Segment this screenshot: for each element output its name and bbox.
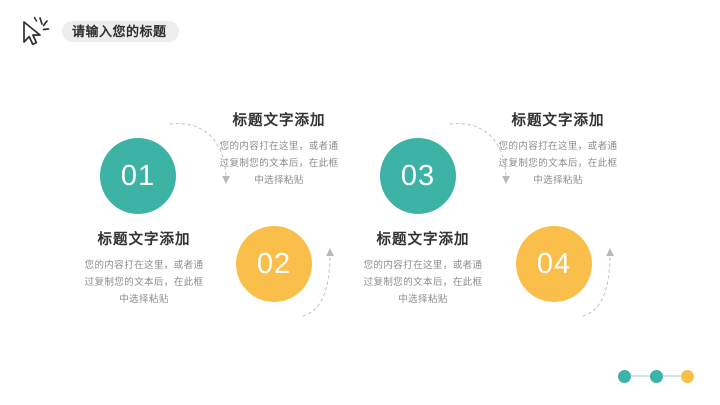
step-body-01: 您的内容打在这里，或者通 过复制您的文本后，在此框 中选择粘贴 xyxy=(195,139,363,189)
step-body-line: 您的内容打在这里，或者通 xyxy=(195,139,363,156)
step-number-04: 04 xyxy=(537,250,571,279)
step-body-line: 过复制您的文本后，在此框 xyxy=(474,156,642,173)
step-circle-02[interactable]: 02 xyxy=(236,226,312,302)
footer-dot-link xyxy=(663,375,682,377)
step-heading-01: 标题文字添加 xyxy=(195,113,363,130)
slide-header: 请输入您的标题 xyxy=(0,0,720,56)
step-body-line: 中选择粘贴 xyxy=(474,173,642,190)
step-body-line: 中选择粘贴 xyxy=(339,292,507,309)
step-heading-03: 标题文字添加 xyxy=(474,113,642,130)
page-title-text: 请输入您的标题 xyxy=(72,25,167,38)
step-body-line: 您的内容打在这里，或者通 xyxy=(474,139,642,156)
step-number-01: 01 xyxy=(121,162,155,191)
step-number-02: 02 xyxy=(257,250,291,279)
step-body-line: 中选择粘贴 xyxy=(195,173,363,190)
step-body-line: 过复制您的文本后，在此框 xyxy=(339,275,507,292)
step-circle-04[interactable]: 04 xyxy=(516,226,592,302)
step-circle-01[interactable]: 01 xyxy=(100,138,176,214)
page-title: 请输入您的标题 xyxy=(62,21,179,42)
cursor-click-sparkle-icon xyxy=(16,14,56,48)
step-text-block-03: 标题文字添加 您的内容打在这里，或者通 过复制您的文本后，在此框 中选择粘贴 xyxy=(474,113,642,189)
footer-dot-1 xyxy=(618,370,631,383)
step-heading-02: 标题文字添加 xyxy=(60,232,228,249)
step-heading-04: 标题文字添加 xyxy=(339,232,507,249)
step-body-line: 过复制您的文本后，在此框 xyxy=(60,275,228,292)
step-body-02: 您的内容打在这里，或者通 过复制您的文本后，在此框 中选择粘贴 xyxy=(60,258,228,308)
step-body-line: 您的内容打在这里，或者通 xyxy=(60,258,228,275)
step-text-block-01: 标题文字添加 您的内容打在这里，或者通 过复制您的文本后，在此框 中选择粘贴 xyxy=(195,113,363,189)
step-number-03: 03 xyxy=(401,162,435,191)
step-text-block-04: 标题文字添加 您的内容打在这里，或者通 过复制您的文本后，在此框 中选择粘贴 xyxy=(339,232,507,308)
step-body-line: 中选择粘贴 xyxy=(60,292,228,309)
footer-dot-link xyxy=(631,375,650,377)
step-body-line: 过复制您的文本后，在此框 xyxy=(195,156,363,173)
step-body-03: 您的内容打在这里，或者通 过复制您的文本后，在此框 中选择粘贴 xyxy=(474,139,642,189)
footer-dot-indicator xyxy=(618,368,694,384)
footer-dot-2 xyxy=(650,370,663,383)
step-text-block-02: 标题文字添加 您的内容打在这里，或者通 过复制您的文本后，在此框 中选择粘贴 xyxy=(60,232,228,308)
footer-dot-3 xyxy=(681,370,694,383)
step-circle-03[interactable]: 03 xyxy=(380,138,456,214)
step-body-04: 您的内容打在这里，或者通 过复制您的文本后，在此框 中选择粘贴 xyxy=(339,258,507,308)
step-body-line: 您的内容打在这里，或者通 xyxy=(339,258,507,275)
